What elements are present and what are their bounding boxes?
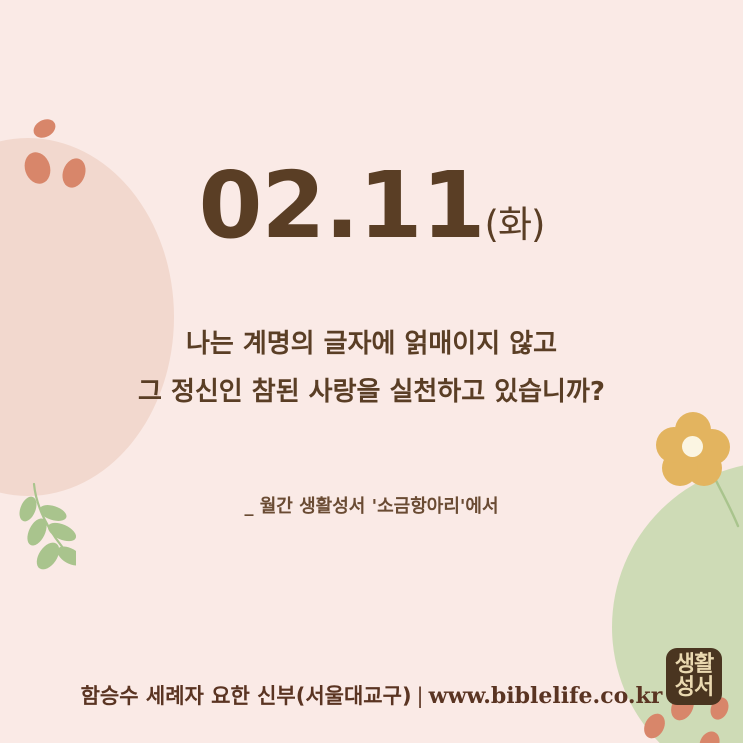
logo-line-1: 생활 [675, 654, 713, 676]
petal-dot-icon [640, 710, 669, 742]
footer: 함승수 세례자 요한 신부(서울대교구)|www.biblelife.co.kr [0, 680, 743, 710]
logo-line-2: 성서 [675, 677, 713, 699]
biblelife-logo[interactable]: 생활 성서 [666, 648, 722, 705]
quote-text: 나는 계명의 글자에 얽매이지 않고 그 정신인 참된 사랑을 실천하고 있습니… [0, 320, 743, 416]
quote-attribution: _ 월간 생활성서 '소금항아리'에서 [0, 492, 743, 518]
petal-dot-icon [696, 728, 724, 743]
quote-line: 나는 계명의 글자에 얽매이지 않고 [0, 320, 743, 368]
footer-separator: | [412, 684, 429, 708]
quote-card: 02.11(화) 나는 계명의 글자에 얽매이지 않고 그 정신인 참된 사랑을… [0, 0, 743, 743]
date-weekday: (화) [485, 203, 545, 246]
date-heading: 02.11(화) [0, 160, 743, 252]
date-number: 02.11 [199, 152, 485, 259]
flower-icon [656, 412, 730, 486]
petal-dot-icon [30, 116, 58, 142]
footer-website-url[interactable]: www.biblelife.co.kr [429, 683, 663, 709]
quote-line: 그 정신인 참된 사랑을 실천하고 있습니까? [0, 368, 743, 416]
footer-author: 함승수 세례자 요한 신부(서울대교구) [81, 684, 412, 708]
